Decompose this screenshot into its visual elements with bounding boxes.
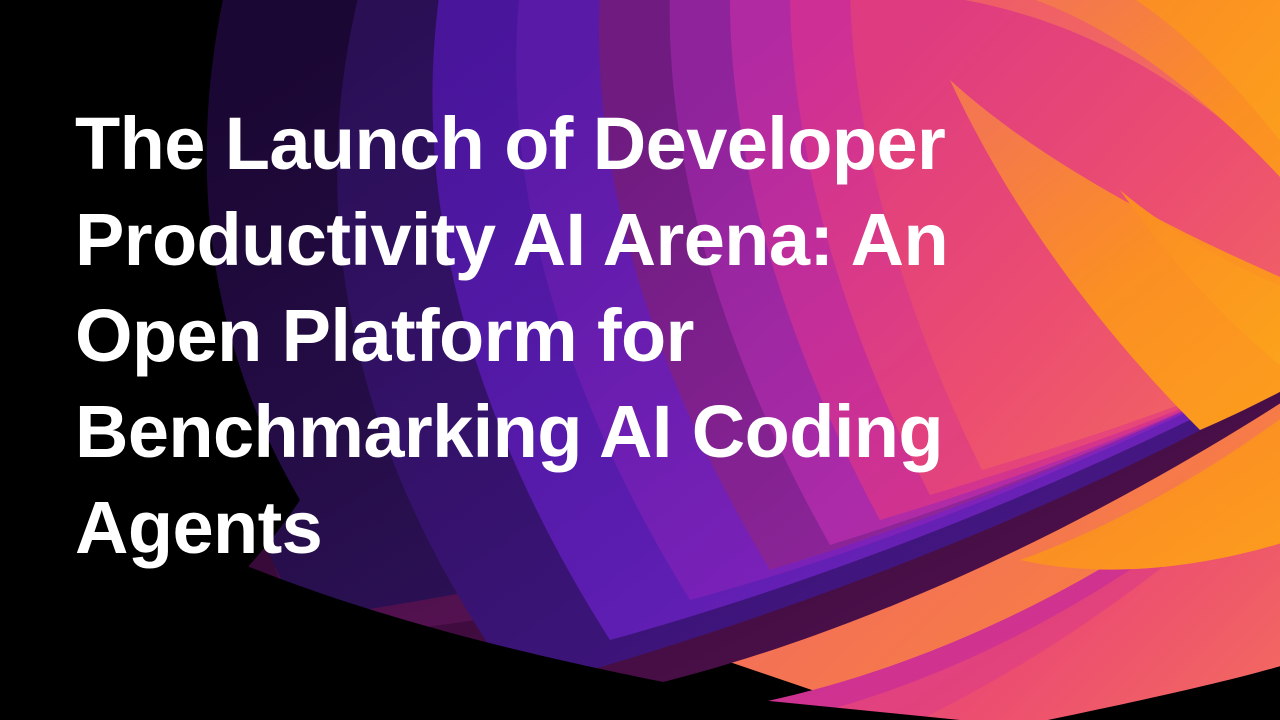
page-title: The Launch of Developer Productivity AI … xyxy=(75,96,1055,576)
headline-line-2: Productivity AI Arena: An xyxy=(75,192,1055,288)
headline-line-1: The Launch of Developer xyxy=(75,96,1055,192)
headline-line-3: Open Platform for xyxy=(75,288,1055,384)
hero-banner-card: The Launch of Developer Productivity AI … xyxy=(0,0,1280,720)
headline-line-4: Benchmarking AI Coding xyxy=(75,384,1055,480)
headline-line-5: Agents xyxy=(75,480,1055,576)
